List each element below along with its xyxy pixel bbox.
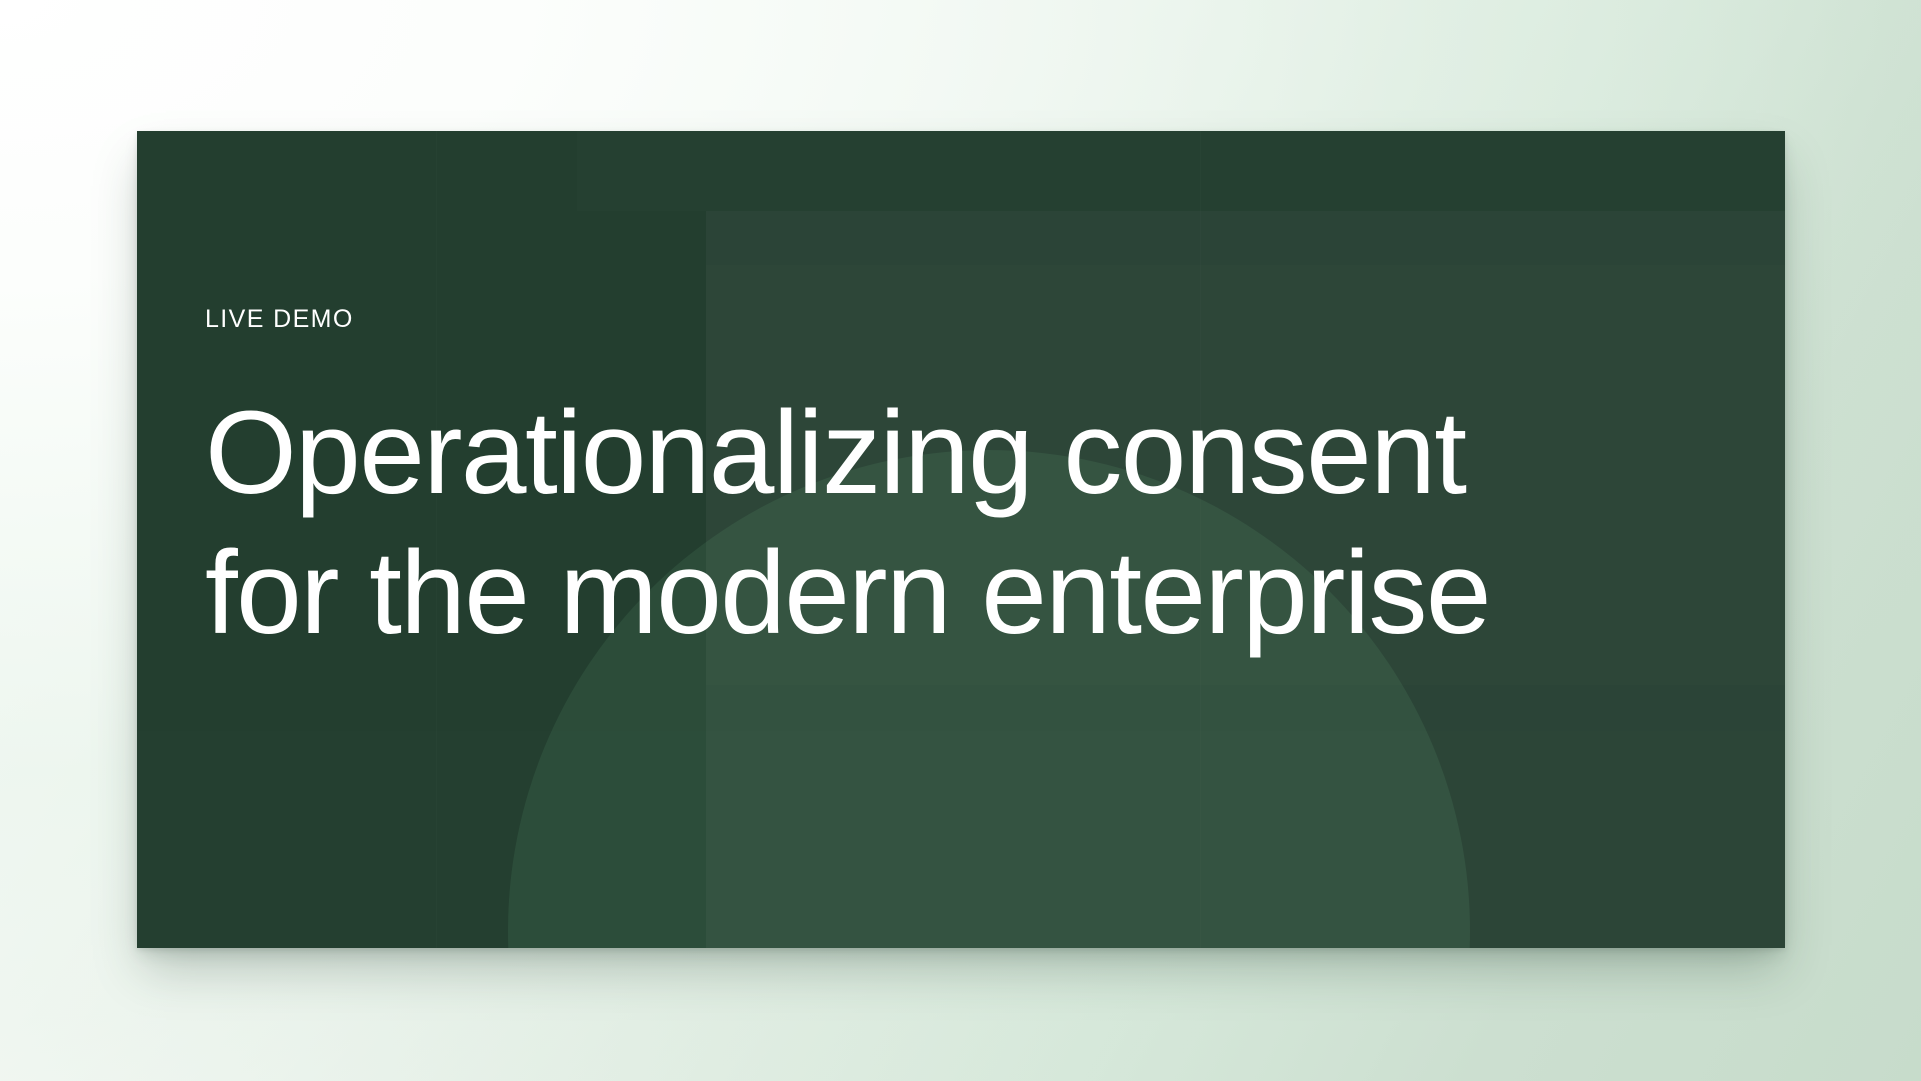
hero-title-line-1: Operationalizing consent [205,383,1490,523]
slide-root: LIVE DEMO Operationalizing consent for t… [0,0,1921,1081]
hero-slide-card: LIVE DEMO Operationalizing consent for t… [137,131,1785,948]
hero-title-line-2: for the modern enterprise [205,523,1490,663]
hero-content: LIVE DEMO Operationalizing consent for t… [205,131,1725,948]
hero-title: Operationalizing consent for the modern … [205,383,1490,663]
eyebrow-label: LIVE DEMO [205,307,354,332]
